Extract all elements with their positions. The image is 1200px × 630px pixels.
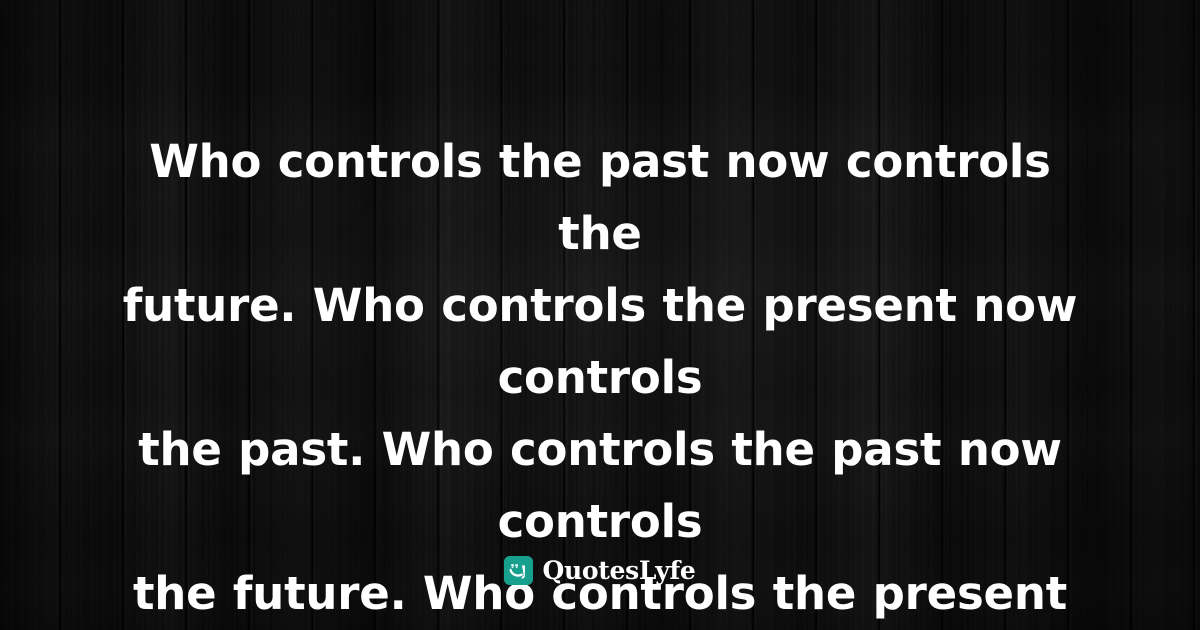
quoteslyfe-smiley-quote-icon <box>504 556 533 585</box>
quote-text: Who controls the past now controls the f… <box>100 126 1100 630</box>
card-content: Who controls the past now controls the f… <box>0 0 1200 630</box>
quote-card: Who controls the past now controls the f… <box>0 0 1200 630</box>
quoteslyfe-wordmark: QuotesLyfe <box>542 556 695 585</box>
quote-line: future. Who controls the present now con… <box>100 270 1100 414</box>
quote-line: Who controls the past now controls the <box>100 126 1100 270</box>
quoteslyfe-logo[interactable]: QuotesLyfe <box>0 556 1200 585</box>
quote-line: the past. Who controls the past now cont… <box>100 414 1100 558</box>
